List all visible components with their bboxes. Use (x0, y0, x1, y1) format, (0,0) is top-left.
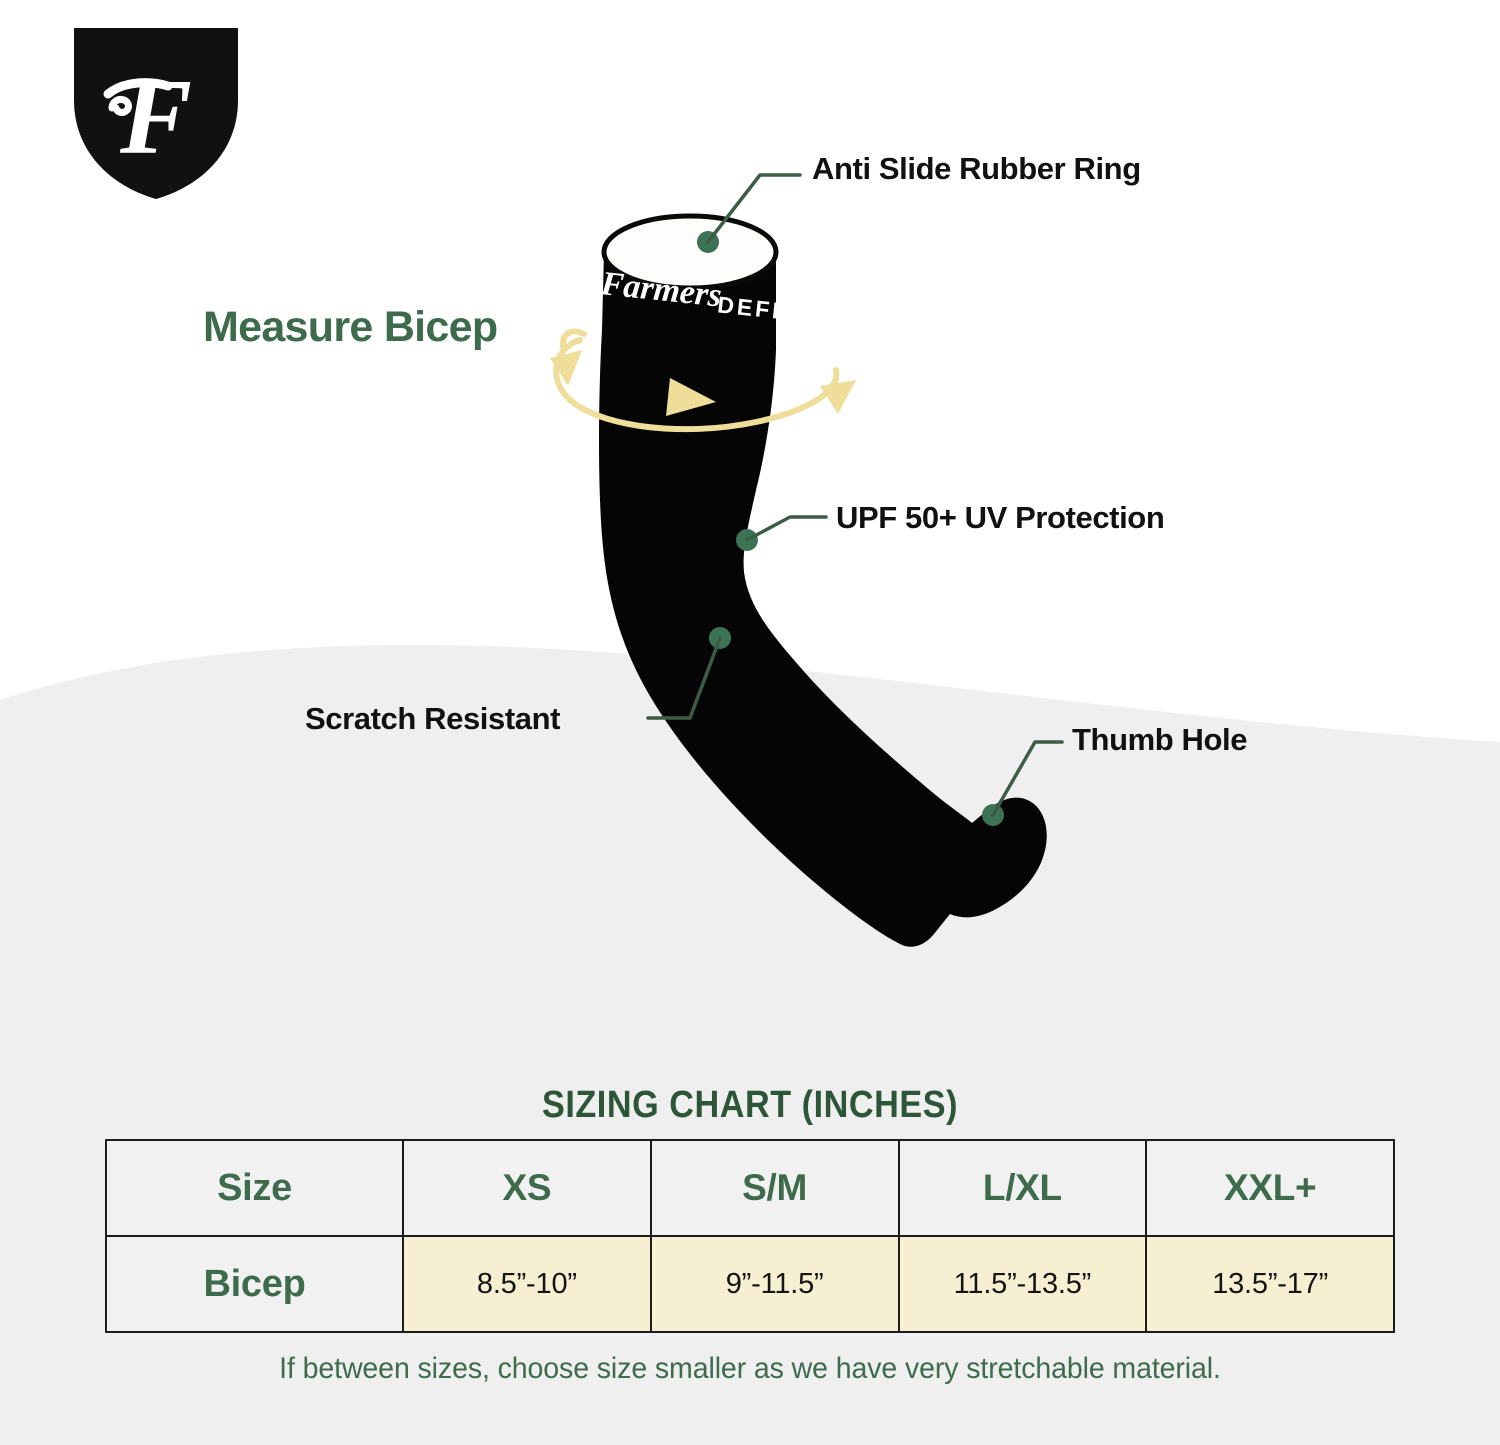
svg-text:F: F (119, 58, 192, 177)
dot-anti-slide-rubber-ring (697, 231, 719, 253)
row-header-bicep-text: Bicep (204, 1263, 306, 1305)
sizing-chart-title: SIZING CHART (INCHES) (75, 1084, 1425, 1127)
cell-row-header-size: Size (106, 1140, 403, 1236)
annotation-label-scratch-resistant: Scratch Resistant (305, 701, 560, 737)
dot-thumb-hole (982, 804, 1004, 826)
dot-scratch-resistant (709, 627, 731, 649)
sizing-infographic: F Farmers DEFENSE (0, 0, 1500, 1445)
measure-bicep-label: Measure Bicep (203, 303, 497, 352)
cell-size-sm: S/M (651, 1140, 899, 1236)
cell-bicep-sm: 9”-11.5” (651, 1236, 899, 1332)
size-label-lxl: L/XL (983, 1167, 1062, 1208)
row-header-size-text: Size (217, 1167, 292, 1209)
dot-upf-protection (736, 529, 758, 551)
shield-letter-f: F (108, 58, 192, 177)
brand-logo: F (56, 16, 256, 212)
cell-size-xxl: XXL+ (1146, 1140, 1394, 1236)
table-row-bicep-values: Bicep 8.5”-10” 9”-11.5” 11.5”-13.5” 13.5… (106, 1236, 1394, 1332)
table-row-size-headers: Size XS S/M L/XL XXL+ (106, 1140, 1394, 1236)
sizing-chart-note: If between sizes, choose size smaller as… (38, 1352, 1463, 1386)
cell-row-header-bicep: Bicep (106, 1236, 403, 1332)
cell-size-xs: XS (403, 1140, 651, 1236)
bicep-value-sm: 9”-11.5” (726, 1268, 824, 1300)
cell-bicep-xs: 8.5”-10” (403, 1236, 651, 1332)
cell-bicep-lxl: 11.5”-13.5” (899, 1236, 1147, 1332)
cell-bicep-xxl: 13.5”-17” (1146, 1236, 1394, 1332)
arm-sleeve-illustration: Farmers DEFENSE (520, 190, 1080, 980)
size-label-sm: S/M (742, 1167, 807, 1208)
bicep-value-lxl: 11.5”-13.5” (954, 1268, 1092, 1300)
annotation-label-anti-slide-rubber-ring: Anti Slide Rubber Ring (812, 151, 1141, 187)
bicep-value-xxl: 13.5”-17” (1212, 1268, 1328, 1300)
annotation-label-thumb-hole: Thumb Hole (1072, 722, 1247, 758)
size-label-xxl: XXL+ (1224, 1167, 1316, 1208)
cell-size-lxl: L/XL (899, 1140, 1147, 1236)
size-label-xs: XS (502, 1167, 551, 1208)
bicep-value-xs: 8.5”-10” (477, 1268, 577, 1300)
sizing-chart-table: Size XS S/M L/XL XXL+ Bicep (105, 1139, 1395, 1333)
annotation-label-upf-protection: UPF 50+ UV Protection (836, 500, 1164, 536)
